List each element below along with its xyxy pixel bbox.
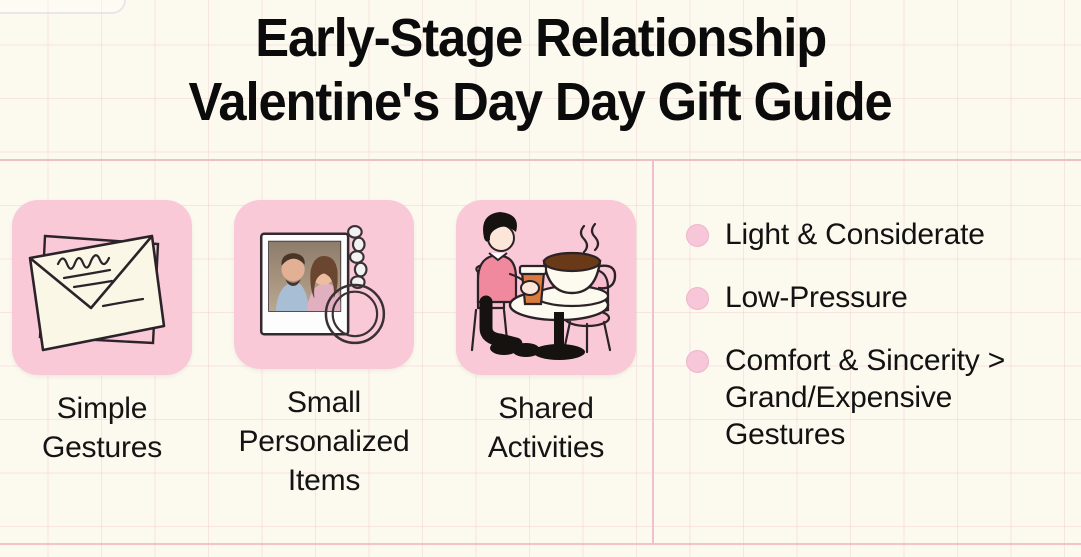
key-principles-list: Light & Considerate Low-Pressure Comfort… bbox=[686, 216, 1066, 479]
header-divider bbox=[0, 159, 1081, 161]
grid-accent-line bbox=[0, 543, 1081, 545]
gift-category-list: Simple Gestures bbox=[0, 200, 652, 500]
gift-card-small-personalized-items[interactable]: Small Personalized Items bbox=[234, 200, 414, 500]
cafe-coffee-date-icon bbox=[456, 200, 636, 375]
page-title-line-1: Early-Stage Relationship bbox=[255, 6, 826, 70]
list-item: Light & Considerate bbox=[686, 216, 1066, 253]
list-item: Low-Pressure bbox=[686, 279, 1066, 316]
list-item: Comfort & Sincerity > Grand/Expensive Ge… bbox=[686, 342, 1066, 453]
envelope-letter-icon bbox=[12, 200, 192, 375]
photo-keychain-icon bbox=[234, 200, 414, 369]
gift-card-simple-gestures[interactable]: Simple Gestures bbox=[12, 200, 192, 500]
bullet-dot-icon bbox=[686, 287, 709, 310]
gift-card-label: Shared Activities bbox=[488, 389, 604, 467]
bullet-dot-icon bbox=[686, 224, 709, 247]
page-title: Early-Stage Relationship Valentine's Day… bbox=[0, 0, 1081, 150]
list-item-label: Comfort & Sincerity > Grand/Expensive Ge… bbox=[725, 342, 1066, 453]
gift-card-label: Simple Gestures bbox=[42, 389, 162, 467]
content-column-divider bbox=[652, 161, 654, 544]
list-item-label: Low-Pressure bbox=[725, 279, 908, 316]
gift-card-label: Small Personalized Items bbox=[238, 383, 409, 500]
gift-card-shared-activities[interactable]: Shared Activities bbox=[456, 200, 636, 500]
page-title-line-2: Valentine's Day Day Gift Guide bbox=[189, 70, 892, 134]
bullet-dot-icon bbox=[686, 350, 709, 373]
list-item-label: Light & Considerate bbox=[725, 216, 985, 253]
